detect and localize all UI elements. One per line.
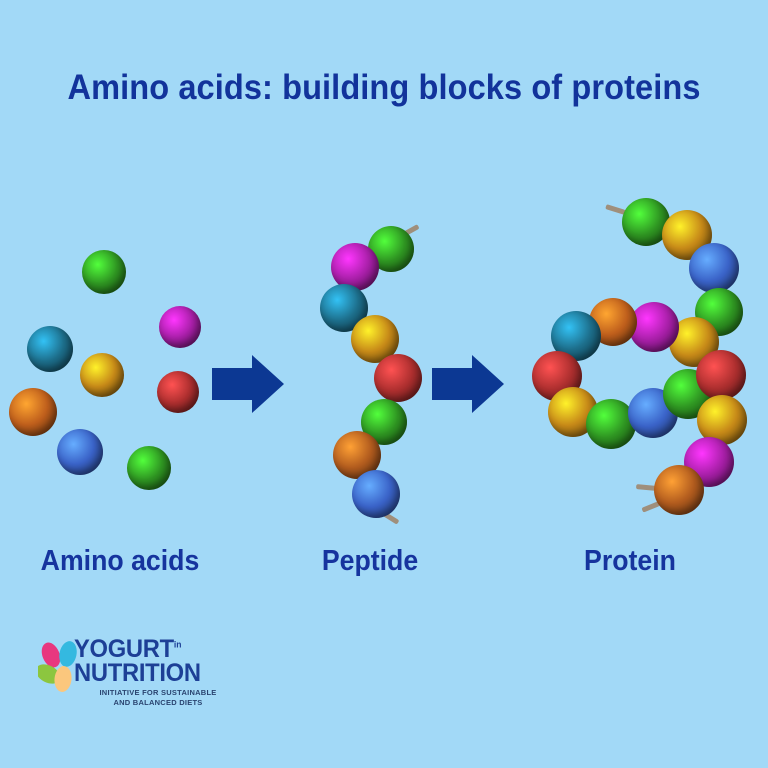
- infographic-canvas: Amino acids: building blocks of proteins…: [0, 0, 768, 768]
- arrow-amino-to-peptide: [212, 355, 284, 413]
- amino-acid-sphere-magenta: [629, 302, 679, 352]
- amino-acid-sphere-red: [374, 354, 422, 402]
- amino-acid-sphere-brown: [654, 465, 704, 515]
- amino-acid-sphere-teal: [27, 326, 73, 372]
- amino-acid-sphere-magenta: [159, 306, 201, 348]
- yogurt-in-nutrition-logo[interactable]: YOGURTin NUTRITION INITIATIVE FOR SUSTAI…: [38, 638, 228, 710]
- stage-label-peptide: Peptide: [273, 545, 466, 578]
- stage-label-protein: Protein: [529, 545, 731, 578]
- page-title: Amino acids: building blocks of proteins: [27, 68, 741, 108]
- amino-acid-sphere-red: [157, 371, 199, 413]
- amino-acid-sphere-blue: [352, 470, 400, 518]
- amino-acid-sphere-orange: [9, 388, 57, 436]
- amino-acid-sphere-blue: [57, 429, 103, 475]
- stage-label-amino-acids: Amino acids: [10, 545, 231, 578]
- logo-tagline-line1: INITIATIVE FOR SUSTAINABLE: [96, 688, 220, 698]
- amino-acid-sphere-green: [82, 250, 126, 294]
- logo-word-yogurt: YOGURTin: [74, 638, 218, 661]
- logo-word-nutrition: NUTRITION: [74, 662, 218, 685]
- amino-acid-sphere-green: [127, 446, 171, 490]
- logo-tagline-line2: AND BALANCED DIETS: [96, 698, 220, 708]
- amino-acid-sphere-blue: [689, 243, 739, 293]
- amino-acid-sphere-gold: [80, 353, 124, 397]
- arrow-peptide-to-protein: [432, 355, 504, 413]
- amino-acid-sphere-red: [696, 350, 746, 400]
- logo-word-in: in: [174, 640, 182, 650]
